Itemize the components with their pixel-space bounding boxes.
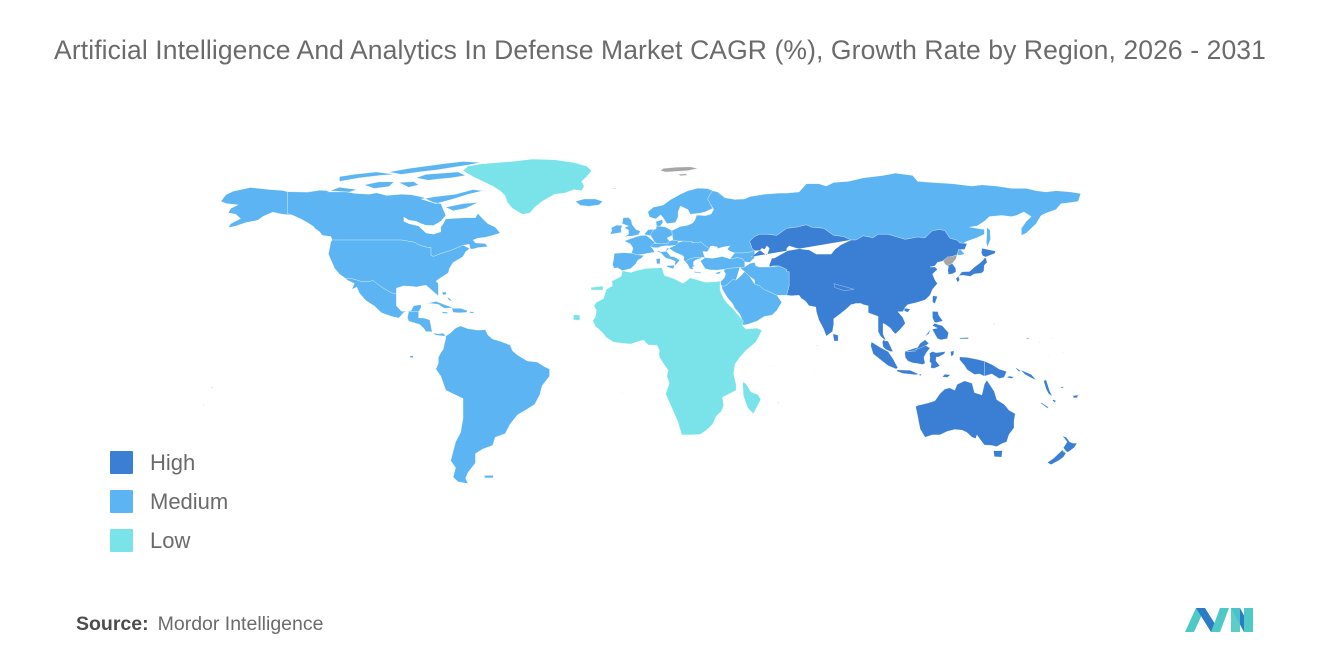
map-region-srilanka	[833, 334, 838, 341]
legend-swatch-high	[110, 451, 133, 474]
world-map-svg	[186, 150, 1086, 570]
map-region-hainan	[904, 308, 910, 312]
map-region-denmark	[656, 220, 663, 227]
legend-item-medium: Medium	[110, 489, 228, 514]
source-label: Source:	[76, 613, 149, 636]
source-attribution: Source: Mordor Intelligence	[76, 613, 323, 636]
legend-swatch-low	[110, 529, 133, 552]
map-country-layer	[203, 159, 1081, 484]
map-region-brunei-png	[984, 361, 1006, 378]
legend-swatch-medium	[110, 490, 133, 513]
map-region-jamaica	[442, 312, 447, 314]
map-region-svalbard	[661, 167, 698, 176]
legend-label-low: Low	[150, 530, 190, 552]
map-region-hispaniola	[452, 308, 467, 312]
map-region-galapagos	[410, 356, 413, 358]
map-region-newzealand	[1047, 436, 1077, 465]
infographic-page: Artificial Intelligence And Analytics In…	[0, 0, 1320, 665]
map-region-bahamas	[442, 292, 452, 302]
legend-item-high: High	[110, 450, 228, 475]
map-region-uk	[610, 218, 640, 238]
map-region-iceland	[575, 199, 602, 206]
map-region-southamerica	[436, 326, 550, 484]
page-title: Artificial Intelligence And Analytics In…	[30, 32, 1290, 70]
legend-item-low: Low	[110, 528, 228, 553]
logo-m-shape	[1185, 608, 1229, 632]
map-region-southkorea	[945, 264, 956, 275]
logo-mark	[1183, 598, 1257, 640]
map-region-capeverde	[573, 315, 579, 321]
legend-label-medium: Medium	[150, 491, 228, 513]
map-region-cyprus	[716, 271, 722, 274]
map-region-germany	[651, 226, 673, 244]
map-region-philippines	[925, 311, 948, 339]
map-region-greenland	[463, 159, 591, 214]
logo-i-shape	[1231, 608, 1253, 632]
map-region-france	[624, 235, 654, 254]
map-region-taiwan	[932, 296, 937, 304]
map-region-australia	[916, 380, 1016, 457]
mordor-intelligence-logo	[1183, 598, 1257, 640]
map-region-sakhalin	[986, 228, 990, 247]
map-legend: High Medium Low	[110, 450, 228, 553]
map-region-janmayen	[613, 188, 617, 189]
map-region-iberia	[613, 253, 644, 271]
map-region-canaries	[591, 286, 603, 290]
source-value: Mordor Intelligence	[158, 613, 324, 636]
map-region-puertorico	[470, 312, 474, 313]
map-region-falkland	[485, 475, 494, 477]
legend-label-high: High	[150, 452, 195, 474]
map-region-cuba	[426, 301, 452, 308]
world-choropleth-map	[186, 150, 1086, 570]
map-region-centam	[407, 311, 445, 336]
